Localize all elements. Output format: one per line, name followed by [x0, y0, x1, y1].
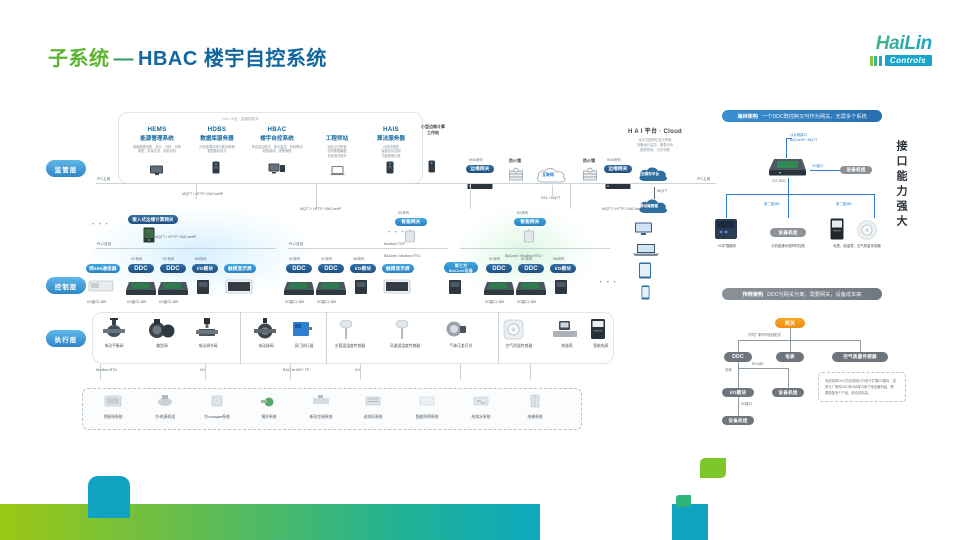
system-ahu[interactable]: 新风空调系统 [298, 394, 344, 420]
hailin-branch-right [874, 194, 875, 218]
ddc-group3-item3-pill[interactable]: I/O模块 [550, 264, 576, 273]
hailin-branch-label-right: 第二路485 [836, 201, 851, 206]
edge-gateway-device-icon [143, 227, 155, 243]
hailin-io-target-pill[interactable]: 设备机组 [840, 166, 872, 174]
execution-divider-2 [326, 312, 327, 364]
io-expansion-module-icon [714, 218, 738, 240]
legacy-485-bar [738, 368, 788, 369]
system-cooling[interactable]: 冷станция系统 [194, 394, 240, 420]
card-desc: 能耗数据采集、统计、分析、诊断 报表、账单生成、能效对标 [128, 145, 186, 155]
heat-meter-icon [553, 320, 577, 340]
firewall-icon [583, 167, 597, 183]
exec-device-cap-4: 风门执行器 [282, 344, 326, 349]
ddc-group1-item2-pill[interactable]: DDC [160, 264, 186, 273]
legacy-ddc-stem [738, 362, 739, 388]
exec-device-cap-8: 空气质量传感器 [494, 344, 544, 349]
firewall-icon [509, 167, 523, 183]
internet-down-line [552, 185, 553, 196]
gateway-device-icon [605, 177, 631, 184]
smart-gateway-icon-2 [524, 229, 534, 243]
firewall-label-1: 防火墙 [509, 158, 521, 164]
legacy-aq-pill[interactable]: 空气质量传感器 [832, 352, 888, 362]
fan-icon [364, 394, 382, 408]
ddc-series-6: HC系列 [521, 257, 532, 261]
legacy-equipment2-pill[interactable]: 设备机组 [722, 416, 754, 425]
legacy-ddc-pill[interactable]: DDC [724, 352, 752, 362]
plc-bus-mid [288, 248, 448, 249]
gateway-protocol-1: BACnet / Modbus RTU [384, 254, 421, 259]
legacy-branch-2 [790, 340, 791, 352]
io-series-1: HM系列 [195, 257, 206, 261]
iot-ddc-device-icon [766, 152, 810, 178]
logo-controls-label: Controls [885, 55, 932, 66]
damper-actuator-icon [291, 319, 313, 339]
exec-bus-label-2: BACnet MS / TP [283, 368, 309, 373]
controller-device-icon-g1 [86, 277, 116, 297]
hailin-branch-label-left: 第二路485 [764, 201, 779, 206]
supervisory-card-hdbs[interactable]: HDBS 数据库服务器 历史数据存储与集中管理 数据备份容灾 [188, 126, 246, 154]
control-protocol-4: MQTT / HTTP / BACnetIP [155, 235, 196, 240]
system-fan[interactable]: 送排风系统 [350, 394, 396, 420]
butterfly-valve-icon [148, 318, 176, 340]
ball-valve-icon [254, 318, 276, 340]
card-cn-label: 工程师站 [308, 134, 366, 142]
exec-device-cap-9: 热量表 [548, 344, 586, 349]
exec-device-cap-6: 风道温湿度传感器 [380, 344, 430, 349]
server-icon [386, 161, 395, 174]
cloud-platform-title-block: H A I 平台 · Cloud 全中文图形化显示界面 设备运行监控、报表分析 … [600, 126, 710, 153]
bacnet-third-party-pill[interactable]: 第三方 BACnet设备 [444, 262, 478, 273]
pipe-sensor-icon [336, 320, 356, 340]
ellipsis-left: • • • [92, 222, 109, 228]
ddc-group1-item4-pill[interactable]: 触摸显示屏 [224, 264, 256, 273]
system-cap-3: 锅炉系统 [246, 415, 292, 420]
layer-tag-supervisory: 监管层 [46, 160, 86, 177]
ddc-series-2: HC系列 [163, 257, 174, 261]
footer-gradient-bar [0, 504, 540, 540]
hailin-branch-mid [788, 194, 789, 218]
cloud-platform-desc: 全中文图形化显示界面 设备运行监控、报表分析 趋势预测、分诊诊断 [600, 138, 710, 153]
legacy-gateway-pill[interactable]: 网关 [775, 318, 805, 328]
layer-tag-control: 控制层 [46, 277, 86, 294]
laptop-icon [330, 163, 345, 173]
exec-device-cap-1: 蝶型阀 [140, 344, 184, 349]
iot-ddc-label: IOT-DDC [772, 179, 786, 184]
ddc-series-5: HC系列 [489, 257, 500, 261]
legacy-485-stem [788, 368, 789, 388]
system-cap-8: 电梯系统 [512, 415, 558, 420]
mobile-protocol-label: MQTT [657, 189, 667, 194]
edge-gateway-series-1: HNG系列 [469, 158, 482, 162]
smart-gateway-pill-eg2[interactable]: 智能网关 [514, 218, 546, 226]
ddc-device-icon-2 [156, 276, 190, 298]
water-icon [472, 394, 490, 408]
ddc-device-icon-1 [124, 276, 158, 298]
ddc-group2-item4-pill[interactable]: 触摸显示屏 [382, 264, 414, 273]
page-title: 子系统—HBAC 楼宇自控系统 [48, 42, 327, 71]
ddc-group1-item1-pill[interactable]: DDC [128, 264, 154, 273]
footer-deco-block-2 [672, 504, 708, 540]
logo-bars-icon [870, 56, 882, 66]
ddc-device-icon-6 [514, 276, 548, 298]
card-desc: 系统监控模式、集中监控、系统联动 趋势曲线、报警管理 [248, 145, 306, 155]
plc-bus-label-mid: PLC总线 [289, 242, 303, 247]
touch-display-icon-2 [382, 278, 412, 296]
supervisory-card-hems[interactable]: HEMS 能源管理系统 能耗数据采集、统计、分析、诊断 报表、账单生成、能效对标 [128, 126, 186, 154]
exec-drop-1 [205, 364, 206, 380]
server-icon [212, 161, 221, 174]
system-power[interactable]: 供配电系统 [90, 394, 136, 420]
duct-sensor-icon [392, 320, 412, 340]
bacnet-device-icon [448, 277, 462, 297]
right-panel-vertical-title: 接口能力强大 [893, 140, 909, 230]
eg-series-label-2: EG系列 [517, 211, 528, 215]
hailin-leaf-right-label: 电表、能量表、空气质量传感器 [820, 243, 894, 248]
ddc-series-4: HC系列 [321, 257, 332, 261]
modbus-tcp-label: Modbus TCP [384, 242, 405, 247]
slide-root: 子系统—HBAC 楼宇自控系统 HaiLin Controls 监管层 控制层 … [0, 0, 960, 540]
bus-drop-3 [470, 183, 471, 209]
smart-gateway-icon-1 [405, 229, 415, 243]
hailin-branch-left [726, 194, 727, 218]
power-meter-right-icon [830, 218, 844, 240]
card-desc: 组态点位配置 控制策略编程 系统调试维护 [308, 145, 366, 159]
hailin-arch-badge-bold: 海林架构 [737, 113, 758, 120]
boiler-icon [260, 394, 278, 408]
hailin-branch-bar [726, 194, 874, 195]
exec-device-cap-2: 电动调节阀 [186, 344, 230, 349]
exec-device-cap-5: 水管温湿度传感器 [325, 344, 375, 349]
execution-divider-3 [498, 312, 499, 364]
control-valve-icon [196, 318, 218, 340]
desktop-pc-icon [633, 222, 655, 236]
system-cap-4: 新风空调系统 [298, 415, 344, 420]
legacy-io-module-pill[interactable]: I/O模块 [722, 388, 754, 397]
title-blue: HBAC 楼宇自控系统 [138, 48, 327, 70]
system-chiller[interactable]: 冷/热源机组 [142, 394, 188, 420]
hailin-arch-badge: 海林架构 一个DDC既控制又可作为网关，无需多个系统 [722, 110, 882, 122]
legacy-ddc-io-label: 总线 [725, 368, 732, 372]
system-lighting[interactable]: 智能照明系统 [404, 394, 450, 420]
hailin-arch-badge-text: 一个DDC既控制又可作为网关，无需多个系统 [762, 113, 867, 120]
card-cn-label: 能源管理系统 [128, 134, 186, 142]
ddc-device-icon-3 [282, 276, 316, 298]
cooling-icon [208, 394, 226, 408]
system-boiler[interactable]: 锅炉系统 [246, 394, 292, 420]
hailin-io-hline [810, 170, 840, 171]
internet-protocol-label: SSL / MQTT [541, 196, 561, 201]
control-protocol-1: MQTT / HTTP / BACnetIP [182, 192, 223, 197]
embedded-edge-gateway-pill[interactable]: 嵌入式边缘计算网关 [128, 215, 178, 224]
ahu-icon [312, 394, 330, 408]
legacy-arch-badge-bold: 传统架构 [742, 291, 763, 298]
ddc-device-icon-5 [482, 276, 516, 298]
ellipsis-mid: • • • [388, 230, 405, 236]
legacy-branch-3 [860, 340, 861, 352]
legacy-io-stem [738, 397, 739, 416]
cloud-platform-node-label: 云服务平台 [641, 172, 659, 177]
footer-deco-block-1 [88, 476, 130, 518]
legacy-meter-pill[interactable]: 电表 [776, 352, 804, 362]
exec-drop-4 [460, 364, 461, 380]
io-series-3: HM系列 [553, 257, 564, 261]
card-desc: 历史数据存储与集中管理 数据备份容灾 [188, 145, 246, 155]
valve-icon [103, 318, 125, 340]
ellipsis-right: • • • [600, 280, 617, 286]
eg-series-label-1: EG系列 [398, 211, 409, 215]
legacy-arch-badge-text: DDC与网关分离，需要网关，设备成本高 [767, 291, 861, 298]
workstation-icon [268, 162, 286, 174]
supervisory-panel-badge: H A I 平台 · 监管层软件 [222, 117, 259, 122]
field-bus-label-g1b: I/O接口 485 [127, 300, 146, 305]
ddc-group1-item3-pill[interactable]: I/O模块 [192, 264, 218, 273]
logo-wordmark: HaiLin [820, 34, 932, 53]
system-cap-0: 供配电系统 [90, 415, 136, 420]
field-bus-label-g3b: I/O接口 485 [517, 300, 536, 305]
io-module-icon-2 [354, 277, 368, 297]
legacy-branch-1 [738, 340, 739, 352]
ddc-series-1: HC系列 [131, 257, 142, 261]
ddc-group3-item1-pill[interactable]: DDC [486, 264, 512, 273]
hailin-leaf-left-label: I/O扩展模块 [706, 243, 748, 248]
legacy-note-text: 传统架构DDC的总线接口只用于扩展I/O模块，或是与厂家的DDC和485接口用于… [825, 379, 896, 395]
exec-device-cap-0: 电动平衡阀 [92, 344, 136, 349]
system-cap-2: 冷станция系统 [194, 415, 240, 420]
edge-pc-icon [428, 160, 436, 173]
cloud-platform-title: H A I 平台 · Cloud [600, 126, 710, 135]
system-cap-5: 送排风系统 [350, 415, 396, 420]
ddc-device-icon-4 [314, 276, 348, 298]
title-green: 子系统 [48, 48, 110, 70]
pressure-switch-icon [445, 319, 467, 340]
system-cap-6: 智能照明系统 [404, 415, 450, 420]
bus-label-left: IPC主网 [97, 177, 110, 182]
exec-drop-0 [100, 364, 101, 380]
legacy-root-stem [790, 328, 791, 340]
chiller-icon [156, 394, 174, 408]
ddc-group2-item1-pill[interactable]: DDC [286, 264, 312, 273]
ddc-group2-item3-pill[interactable]: I/O模块 [350, 264, 376, 273]
pill-label: 边缘网关 [470, 166, 489, 172]
exec-drop-3 [360, 364, 361, 380]
field-bus-label-g1c: I/O接口 485 [159, 300, 178, 305]
laptop-client-icon [632, 243, 660, 257]
legacy-io-interface-label: I/O接口 [741, 402, 752, 406]
io-series-2: HM系列 [353, 257, 364, 261]
card-en-label: HEMS [128, 126, 186, 133]
hailin-logo: HaiLin Controls [820, 34, 932, 74]
supervisory-card-hbac[interactable]: HBAC 楼宇自控系统 系统监控模式、集中监控、系统联动 趋势曲线、报警管理 [248, 126, 306, 154]
legacy-arch-badge: 传统架构 DDC与网关分离，需要网关，设备成本高 [722, 288, 882, 300]
elevator-icon [526, 394, 544, 408]
tablet-icon [638, 262, 652, 280]
hailin-uplink-label: 以太网接口 BACnetIP / MQTT [790, 133, 817, 143]
hailin-leaf-mid-sub: 与机组通讯或附时控制 [756, 243, 820, 248]
hailin-leaf-mid-pill[interactable]: 设备机组 [770, 228, 806, 237]
field-bus-label-g3: I/O接口 485 [485, 300, 504, 305]
edge-workstation-label: 小型边缘计算 工作站 [405, 124, 461, 136]
edge-gateway-pill-1[interactable]: 边缘网关 [466, 165, 494, 173]
exec-drop-2 [290, 364, 291, 380]
card-en-label: HDBS [188, 126, 246, 133]
legacy-equipment-pill[interactable]: 设备机组 [772, 388, 804, 397]
plc-bus-label-left: PLC总线 [97, 242, 111, 247]
hailin-io-label: I/O接口 [812, 163, 823, 168]
air-quality-right-icon [856, 220, 878, 240]
ddc-group1-item0-pill[interactable]: 网486通信器 [86, 264, 120, 273]
io-module-icon-1 [196, 277, 210, 297]
card-desc: AI算法模型 智能优化控制 节能策略计算 [362, 145, 420, 159]
monitor-icon [149, 163, 165, 174]
layer-tag-execution: 执行层 [46, 330, 86, 347]
ddc-group3-item2-pill[interactable]: DDC [518, 264, 544, 273]
footer-deco-green-small [676, 495, 691, 507]
legacy-note-box: 传统架构DDC的总线接口只用于扩展I/O模块，或是与厂家的DDC和485接口用于… [818, 372, 906, 402]
system-elevator[interactable]: 电梯系统 [512, 394, 558, 420]
supervisory-card-engineer[interactable]: 工程师站 组态点位配置 控制策略编程 系统调试维护 [308, 126, 366, 159]
field-bus-label-g1: I/O接口 485 [87, 300, 106, 305]
footer-deco-green-large [700, 458, 726, 478]
card-cn-label: 数据库服务器 [188, 134, 246, 142]
power-system-icon [104, 394, 122, 408]
touch-display-icon-1 [224, 278, 254, 296]
hailin-uplink-hline [786, 138, 792, 139]
lighting-icon [418, 394, 436, 408]
plc-bus-right [460, 248, 610, 249]
legacy-branch-bar [738, 340, 860, 341]
plc-bus-left [96, 248, 276, 249]
internet-label: 互联网 [542, 172, 554, 178]
ddc-group2-item2-pill[interactable]: DDC [318, 264, 344, 273]
bus-drop-2 [316, 183, 317, 209]
smart-gateway-pill-eg1[interactable]: 智能网关 [395, 218, 427, 226]
control-protocol-3: MQTT / HTTP / BACnetIP [602, 207, 643, 212]
pill-label: 边缘网关 [608, 166, 627, 172]
system-cap-1: 冷/热源机组 [142, 415, 188, 420]
exec-drop-5 [530, 364, 531, 380]
exec-device-cap-7: 气体压差开关 [436, 344, 486, 349]
ddc-series-3: HC系列 [289, 257, 300, 261]
phone-icon [641, 285, 650, 300]
edge-gateway-series-2: HNG系列 [607, 158, 620, 162]
card-en-label: HBAC [248, 126, 306, 133]
io-module-icon-3 [554, 277, 568, 297]
control-protocol-2: MQTT / HTTP / BACnetIP [300, 207, 341, 212]
bus-label-right: IPC主网 [697, 177, 710, 182]
air-quality-icon [503, 319, 524, 340]
title-dash: — [110, 48, 139, 70]
bus-drop-4 [570, 183, 571, 209]
card-cn-label: 楼宇自控系统 [248, 134, 306, 142]
power-meter-icon [590, 318, 606, 340]
edge-gateway-pill-2[interactable]: 边缘网关 [604, 165, 632, 173]
field-bus-label-g2b: I/O接口 485 [317, 300, 336, 305]
firewall-label-2: 防火墙 [583, 158, 595, 164]
exec-device-cap-10: 智能电表 [582, 344, 620, 349]
field-bus-label-g2: I/O接口 485 [285, 300, 304, 305]
execution-divider-1 [240, 312, 241, 364]
legacy-root-note: 不同厂家不同总线形式 [748, 333, 781, 337]
system-water[interactable]: 给排水系统 [458, 394, 504, 420]
hailin-branch-stem [788, 178, 789, 194]
legacy-485-label: RS-485 [752, 362, 763, 366]
system-cap-7: 给排水系统 [458, 415, 504, 420]
